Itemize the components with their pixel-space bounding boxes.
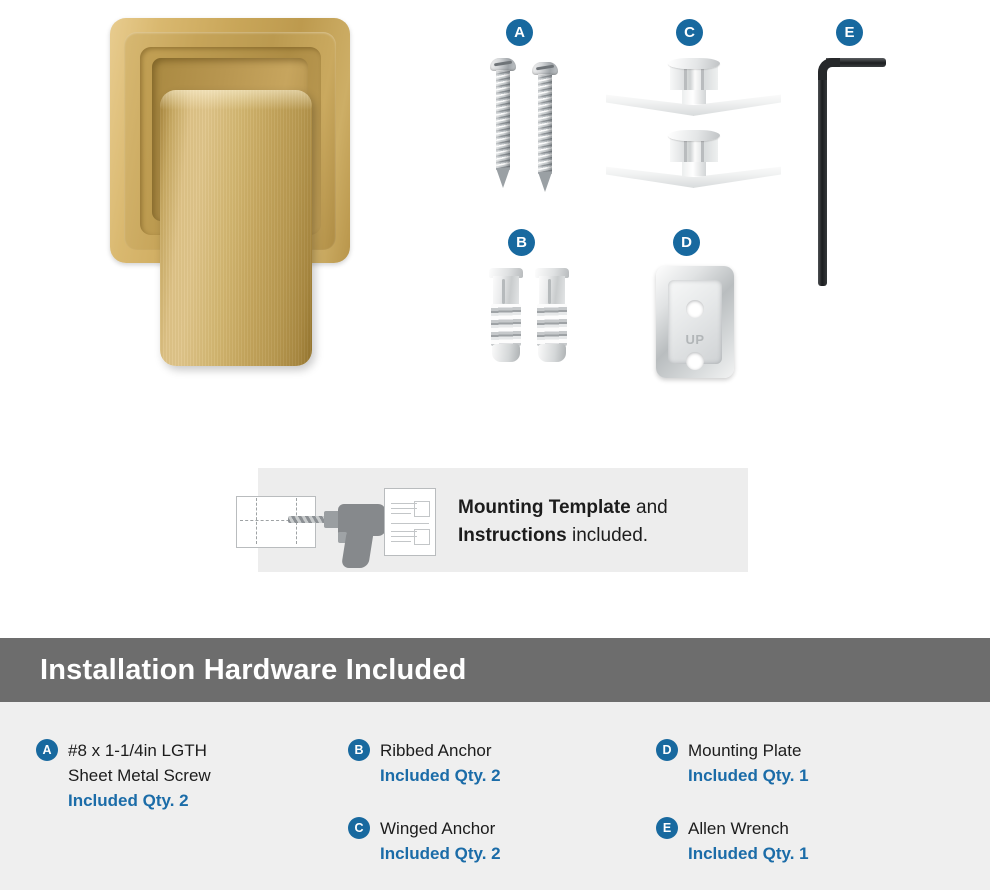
- anchor-neck: [493, 276, 519, 306]
- anchor-cap: [668, 130, 720, 141]
- legend-name-line1: Ribbed Anchor: [380, 738, 501, 763]
- mounting-template-text: Mounting Template and Instructions inclu…: [458, 494, 738, 550]
- mounting-plate-hole-top: [686, 300, 704, 318]
- legend-column-1: A #8 x 1-1/4in LGTH Sheet Metal Screw In…: [36, 738, 211, 841]
- legend-item-e: E Allen Wrench Included Qty. 1: [656, 816, 809, 866]
- anchor-wing-right: [693, 162, 781, 188]
- template-text-line2-bold: Instructions: [458, 525, 567, 546]
- doc-line: [391, 541, 411, 542]
- installation-hardware-header: Installation Hardware Included: [0, 638, 990, 702]
- wrench-elbow: [818, 58, 840, 80]
- knob-body: [160, 90, 312, 366]
- legend-badge-c: C: [348, 817, 370, 839]
- template-text-line1-rest: and: [631, 497, 668, 518]
- mounting-plate-hole-bottom: [686, 352, 704, 370]
- mounting-plate-icon: UP: [656, 266, 734, 378]
- legend-column-2: B Ribbed Anchor Included Qty. 2 C Winged…: [348, 738, 501, 890]
- template-text-line2: Instructions included.: [458, 522, 738, 550]
- screw-slot: [494, 61, 512, 66]
- legend-qty: Included Qty. 1: [688, 841, 809, 866]
- screw-tip: [496, 168, 510, 188]
- installation-hardware-body: A #8 x 1-1/4in LGTH Sheet Metal Screw In…: [0, 702, 990, 890]
- mounting-plate-face: UP: [668, 280, 722, 364]
- anchor-barrel: [670, 66, 718, 90]
- winged-anchor-lower: [606, 130, 781, 192]
- legend-item-c: C Winged Anchor Included Qty. 2: [348, 816, 501, 866]
- legend-name-line1: Winged Anchor: [380, 816, 501, 841]
- installation-hardware-title: Installation Hardware Included: [40, 654, 467, 687]
- wrench-long-arm: [818, 74, 827, 286]
- callout-badge-d: D: [673, 229, 700, 256]
- legend-column-3: D Mounting Plate Included Qty. 1 E Allen…: [656, 738, 809, 890]
- doc-line: [391, 513, 411, 514]
- doc-checkbox: [414, 501, 430, 517]
- callout-badge-b: B: [508, 229, 535, 256]
- screw-slot: [536, 65, 554, 70]
- callout-badge-e: E: [836, 19, 863, 46]
- template-text-line1: Mounting Template and: [458, 494, 738, 522]
- legend-item-a: A #8 x 1-1/4in LGTH Sheet Metal Screw In…: [36, 738, 211, 813]
- winged-anchor-upper: [606, 58, 781, 120]
- legend-name-line1: #8 x 1-1/4in LGTH: [68, 738, 211, 763]
- anchor-base: [492, 344, 520, 362]
- screw-tip: [538, 172, 552, 192]
- legend-badge-b: B: [348, 739, 370, 761]
- drill-bit-icon: [288, 516, 326, 523]
- screw-shank: [538, 74, 552, 174]
- template-text-line2-rest: included.: [567, 525, 648, 546]
- legend-badge-e: E: [656, 817, 678, 839]
- legend-name-line1: Mounting Plate: [688, 738, 809, 763]
- anchor-neck: [539, 276, 565, 306]
- callout-badge-c: C: [676, 19, 703, 46]
- anchor-wing-right: [693, 90, 781, 116]
- legend-qty: Included Qty. 2: [380, 763, 501, 788]
- anchor-cap: [668, 58, 720, 69]
- anchor-wing-left: [606, 90, 694, 116]
- anchor-wing-left: [606, 162, 694, 188]
- legend-name-line2: Sheet Metal Screw: [68, 763, 211, 788]
- anchor-ribs: [491, 304, 521, 346]
- knob-top-bevel: [160, 90, 312, 110]
- legend-item-b: B Ribbed Anchor Included Qty. 2: [348, 738, 501, 788]
- legend-item-d: D Mounting Plate Included Qty. 1: [656, 738, 809, 788]
- screw-shank: [496, 70, 510, 170]
- anchor-ribs: [537, 304, 567, 346]
- legend-badge-a: A: [36, 739, 58, 761]
- instructions-document-icon: [384, 488, 436, 556]
- template-guide-line-vertical-1: [256, 498, 257, 544]
- product-hardware-infographic: A C: [0, 0, 990, 890]
- template-text-line1-bold: Mounting Template: [458, 497, 631, 518]
- doc-line: [391, 523, 429, 524]
- anchor-barrel: [670, 138, 718, 162]
- product-knob-image: [92, 14, 382, 386]
- legend-qty: Included Qty. 2: [380, 841, 501, 866]
- legend-qty: Included Qty. 2: [68, 788, 211, 813]
- legend-name-line1: Allen Wrench: [688, 816, 809, 841]
- doc-checkbox: [414, 529, 430, 545]
- anchor-base: [538, 344, 566, 362]
- legend-badge-d: D: [656, 739, 678, 761]
- mounting-plate-up-marking: UP: [668, 332, 722, 347]
- legend-qty: Included Qty. 1: [688, 763, 809, 788]
- callout-badge-a: A: [506, 19, 533, 46]
